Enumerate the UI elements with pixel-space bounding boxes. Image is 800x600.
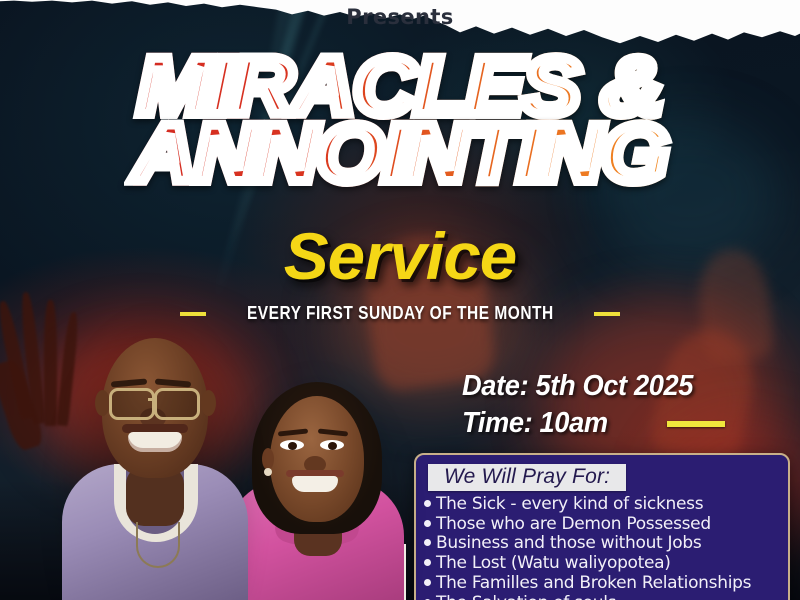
bullet-icon [424, 520, 431, 527]
photo-detail [128, 432, 182, 452]
photo-detail [136, 522, 180, 568]
photo-detail [148, 398, 157, 401]
bullet-icon [424, 559, 431, 566]
photo-detail [95, 390, 110, 416]
list-item: The Lost (Watu waliyopotea) [424, 554, 782, 574]
list-item: Business and those without Jobs [424, 534, 782, 554]
eyeglasses-icon [109, 388, 155, 420]
headline-line-2: ANNOINTING [0, 119, 800, 190]
speaker-photo-man [62, 316, 248, 600]
photo-detail [262, 448, 274, 470]
list-item-label: The Sick - every kind of sickness [436, 495, 703, 515]
accent-bar [667, 421, 725, 427]
photo-detail [288, 442, 297, 450]
prayer-list: The Sick - every kind of sickness Those … [416, 495, 788, 600]
list-item-label: Those who are Demon Possessed [436, 515, 711, 535]
list-item-label: The Salvation of souls [436, 594, 616, 600]
event-time: Time: 10am [462, 407, 608, 440]
list-item: The Salvation of souls [424, 594, 782, 600]
photo-detail [328, 442, 337, 450]
subtitle-text: EVERY FIRST SUNDAY OF THE MONTH [247, 303, 554, 324]
list-item-label: Business and those without Jobs [436, 534, 701, 554]
headline-line-2-text: ANNOINTING [133, 108, 668, 199]
eyeglasses-icon [154, 388, 200, 420]
bullet-icon [424, 539, 431, 546]
presents-label: Presents [0, 5, 800, 29]
event-date: Date: 5th Oct 2025 [462, 370, 709, 403]
photo-detail [264, 468, 272, 476]
event-flyer: Presents MIRACLES & ANNOINTING Service E… [0, 0, 800, 600]
photo-detail [201, 390, 216, 416]
prayer-panel-heading: We Will Pray For: [428, 464, 626, 491]
headline: MIRACLES & ANNOINTING [0, 52, 800, 189]
dash-icon-right [594, 312, 620, 316]
bullet-icon [424, 500, 431, 507]
list-item-label: The Lost (Watu waliyopotea) [436, 554, 671, 574]
bullet-icon [424, 579, 431, 586]
service-word: Service [0, 218, 800, 294]
event-time-row: Time: 10am [462, 407, 725, 440]
photo-detail [292, 476, 338, 492]
list-item: Those who are Demon Possessed [424, 515, 782, 535]
prayer-panel: We Will Pray For: The Sick - every kind … [414, 453, 790, 600]
date-time-block: Date: 5th Oct 2025 Time: 10am [462, 370, 725, 440]
list-item: The Sick - every kind of sickness [424, 495, 782, 515]
list-item: The Familles and Broken Relationships [424, 574, 782, 594]
list-item-label: The Familles and Broken Relationships [436, 574, 751, 594]
